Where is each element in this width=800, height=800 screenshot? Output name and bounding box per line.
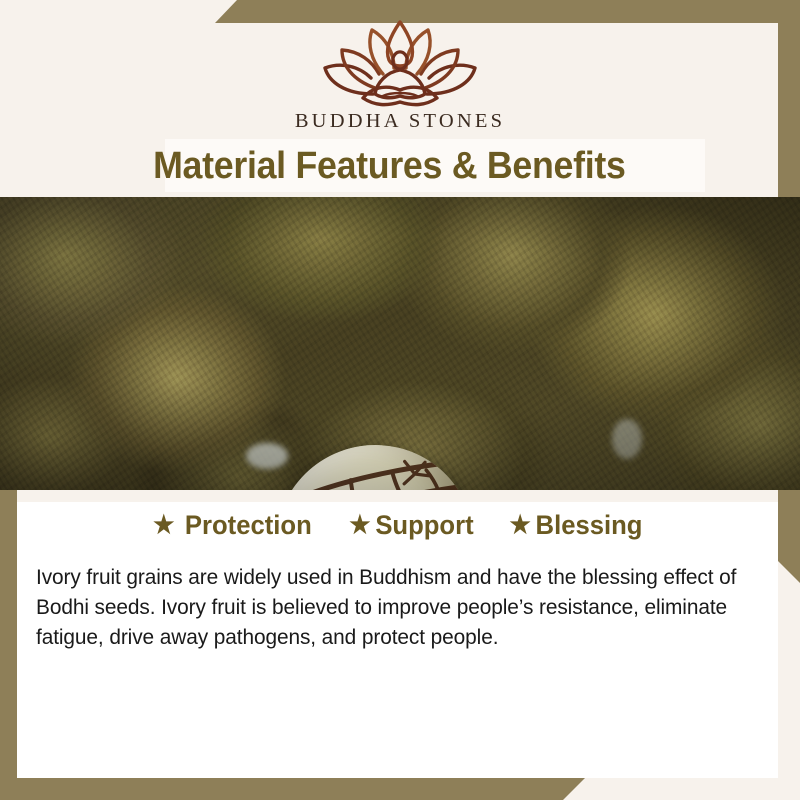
feature-label: Protection bbox=[185, 512, 312, 539]
star-icon: ★ bbox=[510, 513, 531, 538]
feature-benefit-list: ★ Protection ★ Support ★ Blessing bbox=[17, 512, 778, 539]
decorative-band-bottom bbox=[0, 778, 585, 800]
title-banner: Material Features & Benefits bbox=[0, 139, 778, 192]
decorative-band-left bbox=[0, 490, 17, 782]
page-title: Material Features & Benefits bbox=[153, 147, 625, 185]
photo-vignette bbox=[0, 197, 800, 490]
feature-item-support: ★ Support bbox=[349, 512, 473, 539]
lotus-meditation-icon bbox=[315, 16, 485, 108]
product-feature-poster: BUDDHA STONES Material Features & Benefi… bbox=[0, 0, 800, 800]
feature-label: Support bbox=[375, 512, 473, 539]
feature-label: Blessing bbox=[536, 512, 643, 539]
description-paragraph: Ivory fruit grains are widely used in Bu… bbox=[36, 562, 738, 652]
star-icon: ★ bbox=[349, 513, 370, 538]
feature-item-blessing: ★ Blessing bbox=[510, 512, 643, 539]
ivory-nut-pile-photo: Ivory Fruit bbox=[0, 197, 800, 490]
feature-item-protection: ★ Protection bbox=[153, 512, 312, 539]
star-icon: ★ bbox=[153, 513, 174, 538]
brand-logo: BUDDHA STONES bbox=[0, 16, 800, 141]
brand-wordmark: BUDDHA STONES bbox=[295, 110, 505, 133]
content-panel: ★ Protection ★ Support ★ Blessing Ivory … bbox=[17, 490, 778, 778]
content-top-divider bbox=[17, 490, 778, 502]
